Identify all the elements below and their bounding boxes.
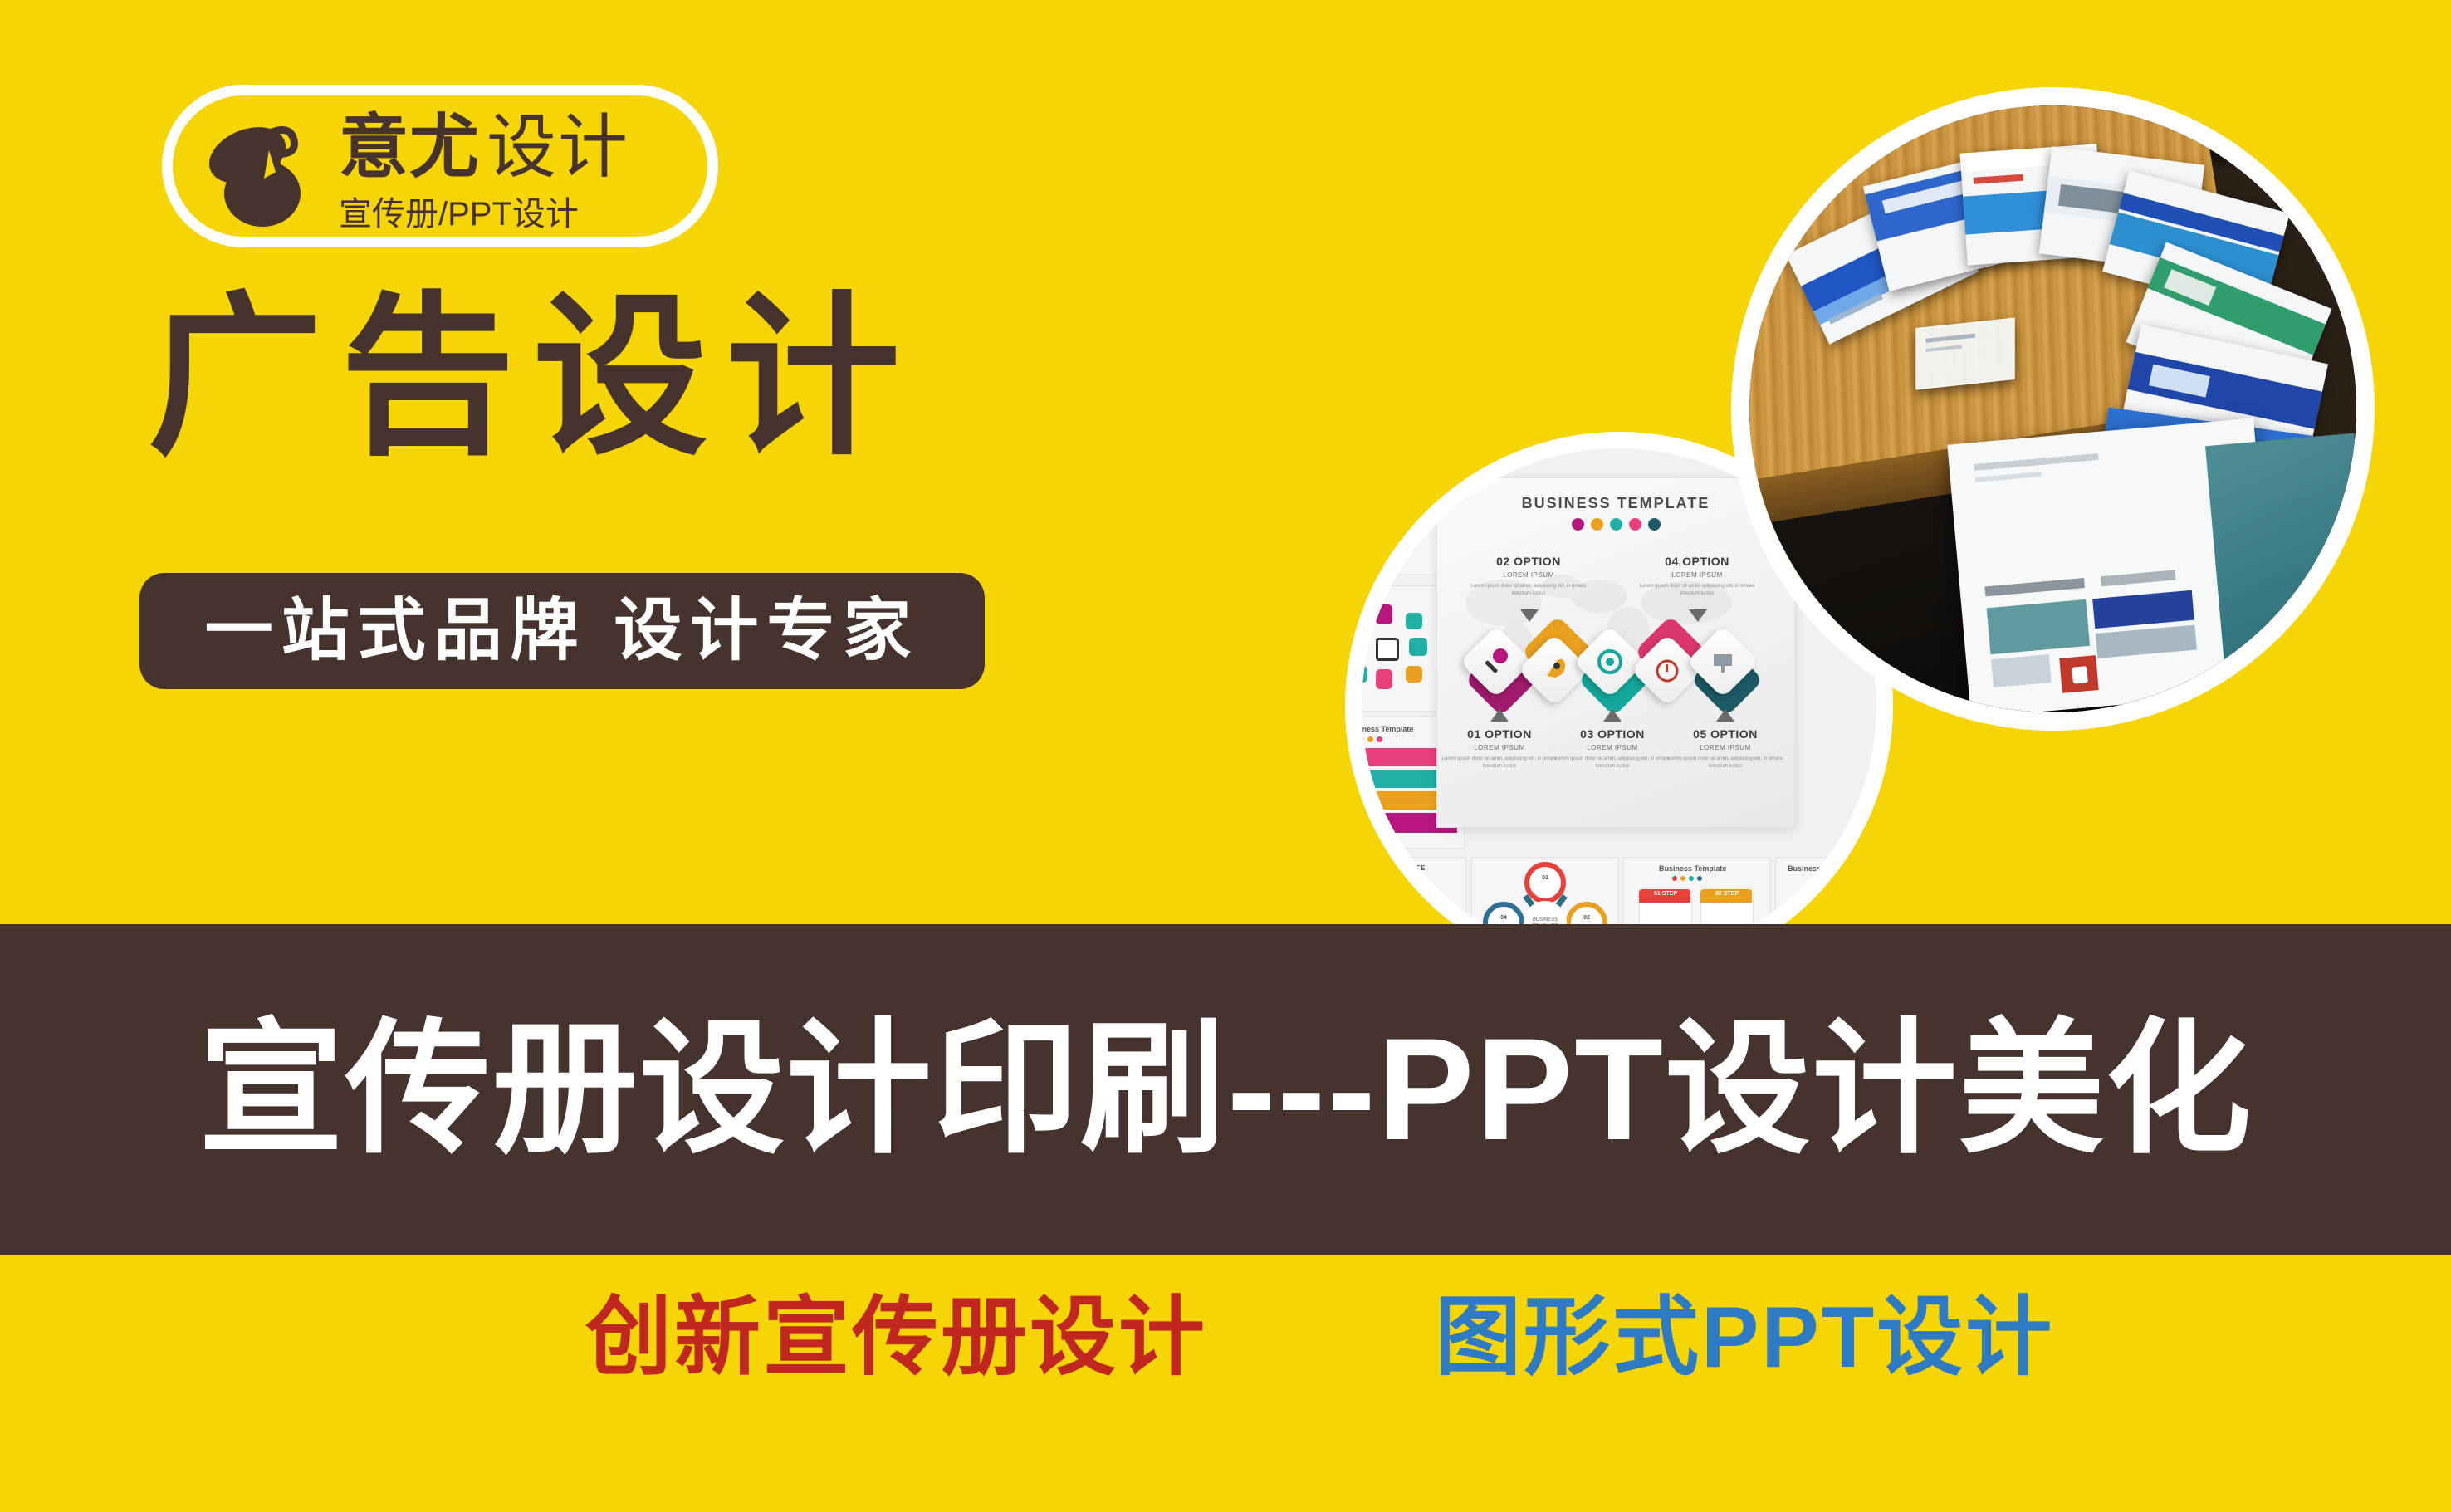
ppt-option-sub: LOREM IPSUM <box>1671 744 1779 751</box>
brand-name-row: 意尤 设计 <box>339 104 704 190</box>
tagline-text: 一站式品牌 设计专家 <box>205 597 920 665</box>
triangle-up-icon <box>1490 709 1509 722</box>
bottom-service-row: 创新宣传册设计 图形式PPT设计 <box>0 1255 2451 1512</box>
ppt-option-body: Lorem ipsum dolor sit amet, adipiscing e… <box>1667 756 1783 771</box>
ppt-option-body: Lorem ipsum dolor sit amet, adipiscing e… <box>1639 583 1755 598</box>
brochure-photo-circle <box>1731 87 2375 731</box>
svg-text:01: 01 <box>1542 875 1548 881</box>
brand-logo-text: 意尤 设计 宣传册/PPT设计 <box>339 104 704 245</box>
brochure-teal-page <box>2205 433 2356 662</box>
ppt-option-body: Lorem ipsum dolor sit amet, adipiscing e… <box>1441 756 1558 771</box>
triangle-down-icon <box>1689 609 1707 622</box>
banner-text: 宣传册设计印刷---PPT设计美化 <box>198 1017 2253 1162</box>
triangle-up-icon <box>1603 709 1622 722</box>
business-card-holder <box>1915 318 2014 390</box>
ppt-diamond-03 <box>1573 625 1646 698</box>
brand-name-thin: 设计 <box>487 104 629 190</box>
ppt-option-sub: LOREM IPSUM <box>1475 571 1583 579</box>
ppt-option-label: 02 OPTION <box>1475 555 1583 568</box>
ppt-main-slide: BUSINESS TEMPLATE <box>1436 477 1795 828</box>
ppt-diamond-02 <box>1518 634 1591 707</box>
svg-text:02: 02 <box>1583 915 1590 921</box>
triangle-up-icon <box>1716 709 1734 722</box>
ppt-option-label: 03 OPTION <box>1558 727 1666 741</box>
page-title: 广告设计 <box>148 291 918 465</box>
ppt-option-sub: LOREM IPSUM <box>1558 744 1666 751</box>
brand-subtitle: 宣传册/PPT设计 <box>339 187 704 235</box>
ppt-option-sub: LOREM IPSUM <box>1446 744 1553 751</box>
ppt-slide-title: BUSINESS TEMPLATE <box>1437 495 1794 512</box>
printed-brochures-photo <box>1749 105 2356 712</box>
photo-scene <box>1749 105 2356 712</box>
brand-logo: 意尤 设计 宣传册/PPT设计 <box>162 85 718 247</box>
ppt-dot-row <box>1437 518 1794 531</box>
ppt-option-label: 01 OPTION <box>1446 727 1553 741</box>
svg-text:04: 04 <box>1500 915 1507 921</box>
ppt-diamond-01 <box>1460 625 1533 698</box>
service-label-brochure: 创新宣传册设计 <box>585 1294 1207 1381</box>
triangle-down-icon <box>1520 609 1539 622</box>
tagline-badge: 一站式品牌 设计专家 <box>139 573 985 689</box>
leaf-bird-logo-icon <box>196 107 329 240</box>
ppt-option-body: Lorem ipsum dolor sit amet, adipiscing e… <box>1470 583 1587 598</box>
ppt-diamond-05 <box>1686 625 1759 698</box>
main-banner: 宣传册设计印刷---PPT设计美化 <box>0 924 2451 1255</box>
svg-text:BUSINESS: BUSINESS <box>1533 917 1558 922</box>
ppt-option-label: 05 OPTION <box>1671 727 1779 741</box>
service-label-ppt: 图形式PPT设计 <box>1435 1294 2054 1381</box>
ppt-option-sub: LOREM IPSUM <box>1643 571 1751 579</box>
brand-name-bold: 意尤 <box>339 104 480 190</box>
ppt-option-label: 04 OPTION <box>1643 555 1751 568</box>
ppt-diamond-04 <box>1631 634 1704 707</box>
poster-canvas: 意尤 设计 宣传册/PPT设计 广告设计 一站式品牌 设计专家 <box>0 0 2451 1512</box>
ppt-option-body: Lorem ipsum dolor sit amet, adipiscing e… <box>1554 756 1671 771</box>
